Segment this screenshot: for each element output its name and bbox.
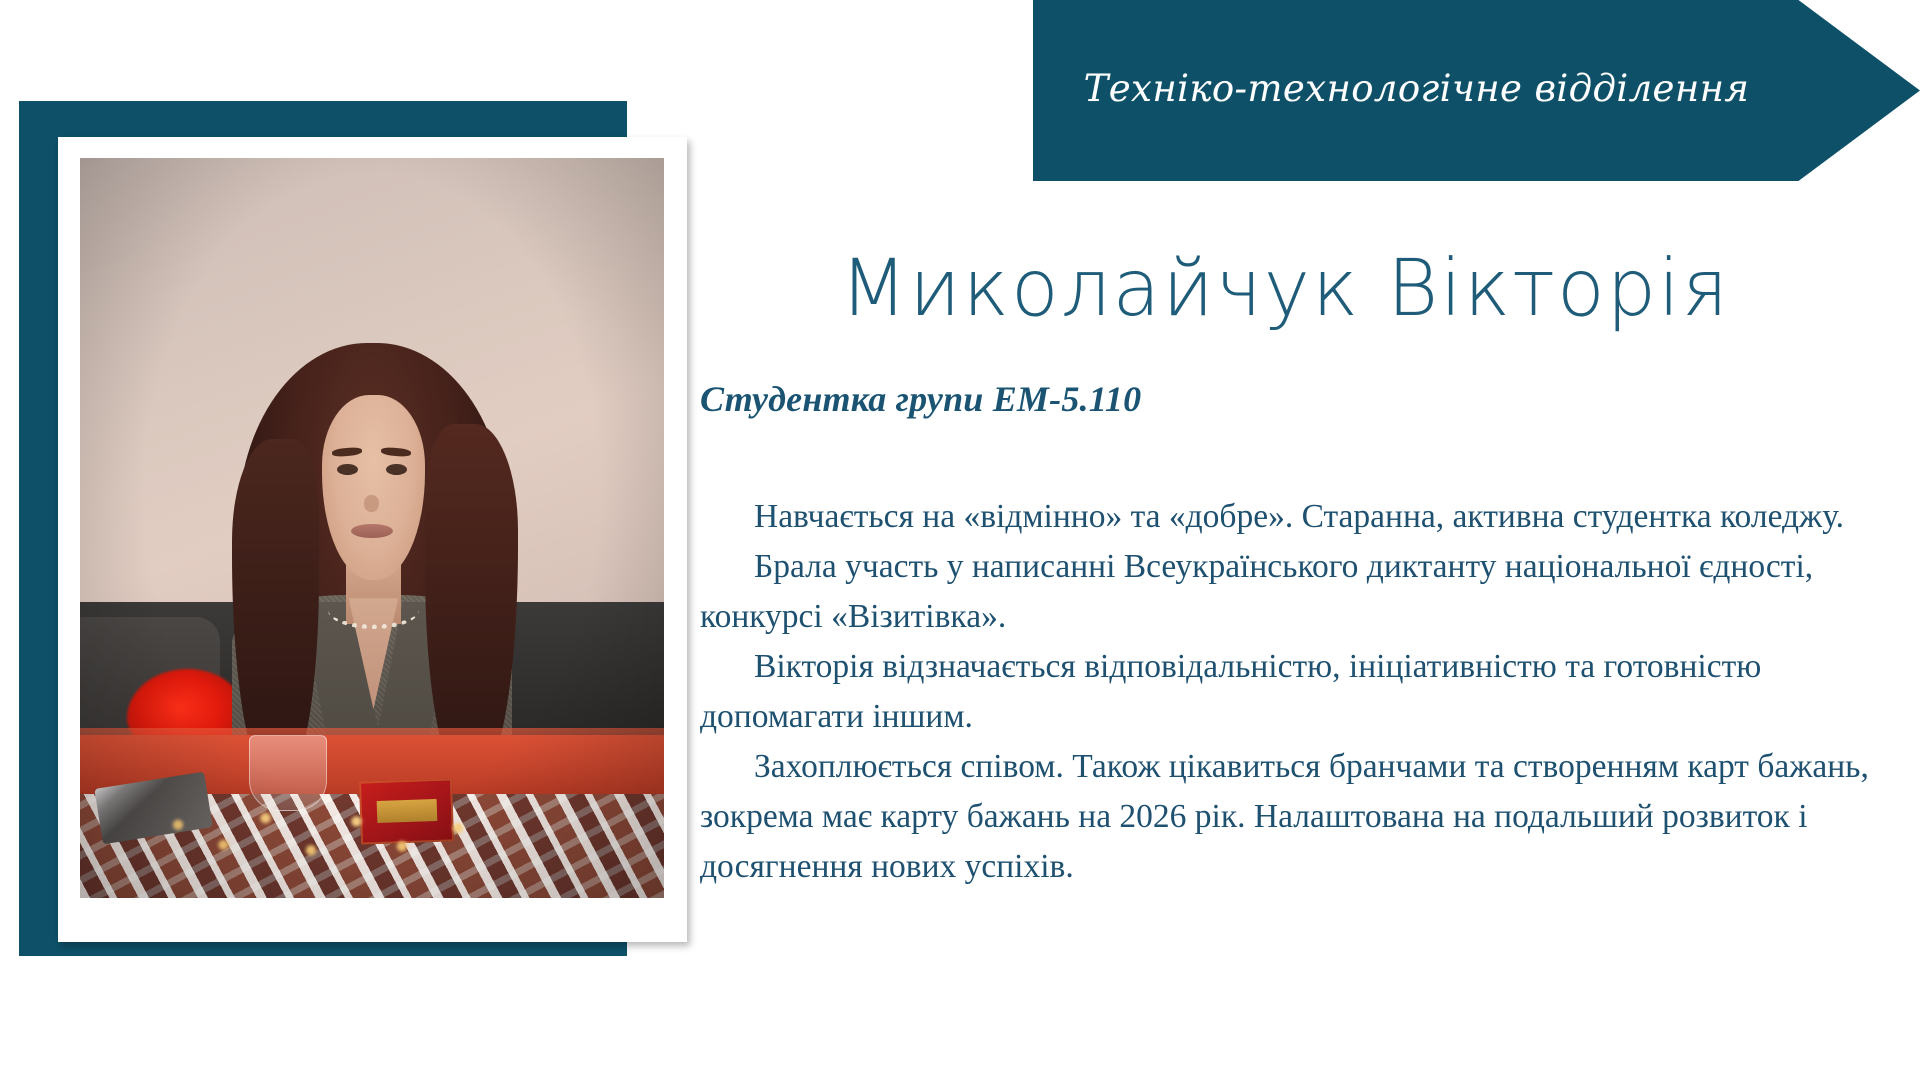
department-banner-label: Техніко-технологічне відділення [1033,0,1800,181]
description-paragraph: Захоплюється співом. Також цікавиться бр… [700,742,1910,892]
photo-white-mat [58,137,687,942]
description-paragraph: Навчається на «відмінно» та «добре». Ста… [700,492,1910,542]
slide-canvas: Техніко-технологічне відділення [0,0,1920,1080]
student-group-subtitle: Студентка групи ЕМ-5.110 [700,378,1141,420]
department-banner: Техніко-технологічне відділення [1033,0,1920,181]
portrait-frame [19,101,627,956]
description-paragraph: Брала участь у написанні Всеукраїнського… [700,542,1910,642]
description-paragraph: Вікторія відзначається відповідальністю,… [700,642,1910,742]
page-title: Миколайчук Вікторія [680,250,1890,328]
photo-vignette [80,158,664,898]
description-body: Навчається на «відмінно» та «добре». Ста… [700,492,1910,892]
student-portrait-photo [80,158,664,898]
